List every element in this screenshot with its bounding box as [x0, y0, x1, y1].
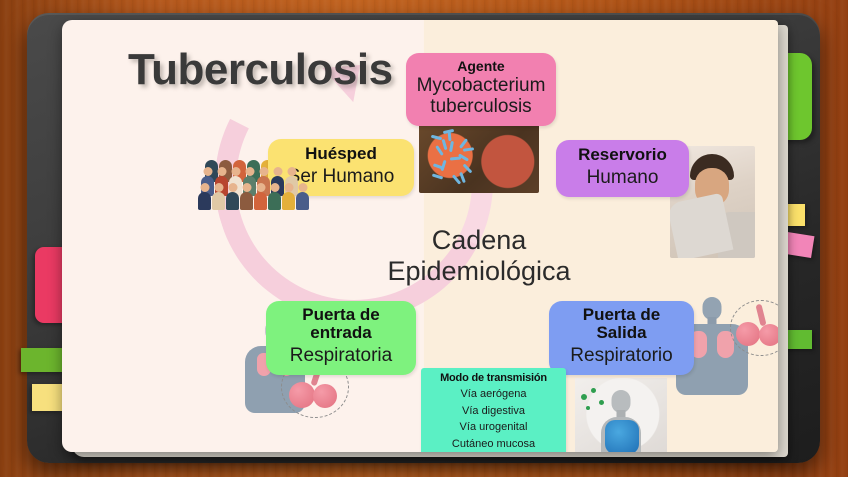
- reservorio-box-title: Reservorio: [566, 145, 679, 165]
- puerta-salida-box-title: Puerta de Salida: [559, 306, 684, 343]
- list-item: Vía urogenital: [427, 419, 560, 436]
- mycobacterium-lungs-image: [419, 118, 539, 193]
- puerta-entrada-box-title: Puerta de entrada: [276, 306, 406, 343]
- reservorio-box-value: Humano: [566, 167, 679, 189]
- center-label: Cadena Epidemiológica: [354, 225, 604, 286]
- crowd-of-people-image: [195, 160, 311, 222]
- page-title: Tuberculosis: [128, 45, 393, 95]
- agente-box-value: Mycobacterium tuberculosis: [416, 75, 546, 118]
- agente-box-title: Agente: [416, 58, 546, 74]
- puerta-entrada-box[interactable]: Puerta de entrada Respiratoria: [266, 301, 416, 375]
- list-item: Vía aerógena: [427, 386, 560, 403]
- puerta-entrada-box-value: Respiratoria: [276, 345, 406, 367]
- reservorio-box[interactable]: Reservorio Humano: [556, 140, 689, 197]
- list-item: Cutáneo mucosa: [427, 436, 560, 452]
- modo-transmision-list: Vía aerógena Vía digestiva Vía urogenita…: [427, 386, 560, 452]
- bronchi-closeup-image: [730, 300, 778, 356]
- left-yellow-tab[interactable]: [32, 384, 62, 411]
- center-label-line-1: Cadena: [354, 225, 604, 256]
- modo-transmision-title: Modo de transmisión: [427, 372, 560, 384]
- agente-box[interactable]: Agente Mycobacterium tuberculosis: [406, 53, 556, 126]
- list-item: Vía digestiva: [427, 403, 560, 420]
- left-green-tab[interactable]: [21, 348, 64, 372]
- slide-page: Tuberculosis Cadena Epidemiológica: [62, 20, 778, 452]
- modo-transmision-box[interactable]: Modo de transmisión Vía aerógena Vía dig…: [421, 368, 566, 452]
- puerta-salida-box-value: Respiratorio: [559, 345, 684, 367]
- medical-3d-figure-image: [575, 378, 667, 452]
- puerta-salida-box[interactable]: Puerta de Salida Respiratorio: [549, 301, 694, 375]
- huesped-box-title: Huésped: [278, 144, 404, 164]
- center-label-line-2: Epidemiológica: [354, 256, 604, 287]
